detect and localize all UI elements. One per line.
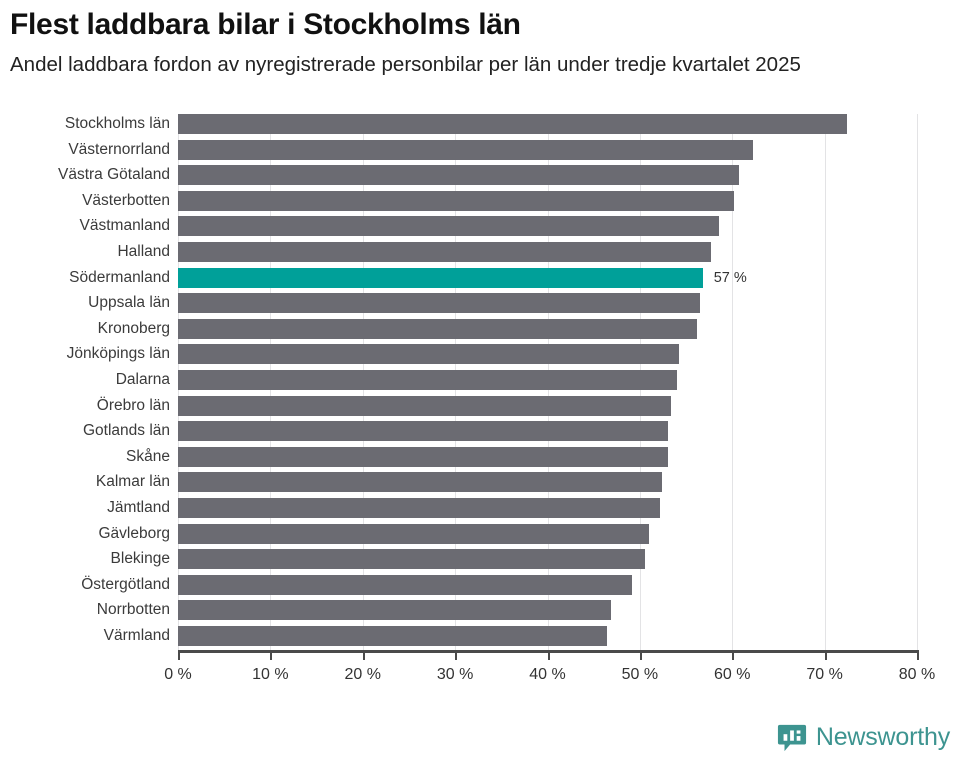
category-label: Värmland (0, 626, 170, 646)
category-label: Västerbotten (0, 191, 170, 211)
bar (178, 216, 719, 236)
category-label: Kronoberg (0, 319, 170, 339)
category-label: Uppsala län (0, 293, 170, 313)
bar (178, 626, 607, 646)
x-axis-tick (270, 650, 272, 660)
x-axis-tick-label: 20 % (345, 666, 381, 684)
category-label: Östergötland (0, 575, 170, 595)
chart-subtitle: Andel laddbara fordon av nyregistrerade … (10, 53, 950, 78)
x-axis-tick (363, 650, 365, 660)
bar (178, 498, 660, 518)
category-axis-labels: Stockholms länVästernorrlandVästra Götal… (0, 104, 170, 650)
x-axis-tick-label: 0 % (164, 666, 192, 684)
logo-wordmark: Newsworthy (816, 725, 950, 750)
bar (178, 549, 645, 569)
bar (178, 600, 611, 620)
x-axis-tick (640, 650, 642, 660)
category-label: Dalarna (0, 370, 170, 390)
x-axis-tick-label: 70 % (806, 666, 842, 684)
bar (178, 524, 649, 544)
x-axis-tick-label: 30 % (437, 666, 473, 684)
category-label: Gotlands län (0, 421, 170, 441)
x-axis-tick-label: 40 % (529, 666, 565, 684)
bar (178, 344, 679, 364)
category-label: Halland (0, 242, 170, 262)
bar (178, 165, 739, 185)
category-label: Västra Götaland (0, 165, 170, 185)
bar (178, 319, 697, 339)
bar (178, 421, 668, 441)
category-label: Västernorrland (0, 140, 170, 160)
bar (178, 370, 677, 390)
x-axis-tick (825, 650, 827, 660)
newsworthy-logo: Newsworthy (777, 722, 950, 752)
category-label: Jämtland (0, 498, 170, 518)
bar-value-label: 57 % (714, 268, 747, 288)
bar-chart-speech-bubble-icon (777, 722, 807, 752)
plot-area: 57 % (178, 104, 917, 650)
category-label: Gävleborg (0, 524, 170, 544)
gridline (825, 114, 826, 650)
x-axis-tick-label: 60 % (714, 666, 750, 684)
category-label: Skåne (0, 447, 170, 467)
x-axis-tick (917, 650, 919, 660)
x-axis-tick (732, 650, 734, 660)
x-axis-tick-label: 50 % (622, 666, 658, 684)
bar (178, 575, 632, 595)
x-axis-tick (548, 650, 550, 660)
category-label: Södermanland (0, 268, 170, 288)
gridline (917, 114, 918, 650)
category-label: Västmanland (0, 216, 170, 236)
page-title: Flest laddbara bilar i Stockholms län (10, 8, 950, 43)
chart-plot: Stockholms länVästernorrlandVästra Götal… (0, 104, 960, 704)
category-label: Örebro län (0, 396, 170, 416)
x-axis-tick (455, 650, 457, 660)
bar (178, 293, 700, 313)
bar (178, 447, 668, 467)
category-label: Stockholms län (0, 114, 170, 134)
x-axis-tick (178, 650, 180, 660)
category-label: Norrbotten (0, 600, 170, 620)
bar (178, 396, 671, 416)
category-label: Blekinge (0, 549, 170, 569)
x-axis-tick-label: 10 % (252, 666, 288, 684)
bar (178, 472, 662, 492)
chart-header: Flest laddbara bilar i Stockholms län An… (0, 0, 960, 77)
bar-highlighted (178, 268, 703, 288)
x-axis-tick-label: 80 % (899, 666, 935, 684)
bar (178, 242, 711, 262)
category-label: Kalmar län (0, 472, 170, 492)
bar (178, 191, 734, 211)
bar (178, 140, 753, 160)
category-label: Jönköpings län (0, 344, 170, 364)
bar (178, 114, 847, 134)
